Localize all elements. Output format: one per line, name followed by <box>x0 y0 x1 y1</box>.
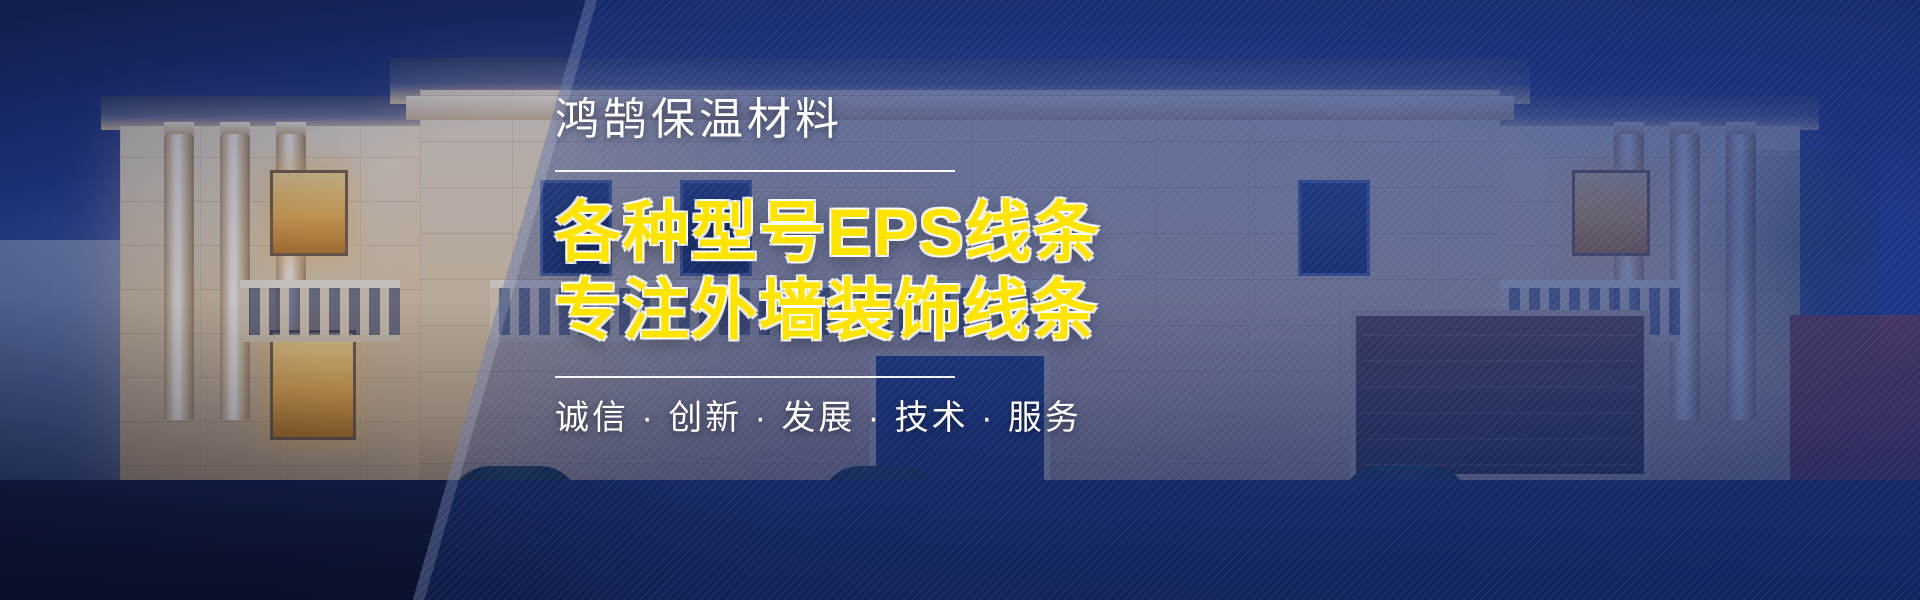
divider-top <box>555 170 955 172</box>
banner-text-block: 鸿鹄保温材料 各种型号EPS线条 专注外墙装饰线条 诚信 · 创新 · 发展 ·… <box>555 96 1455 439</box>
headline-line-2: 专注外墙装饰线条 <box>555 272 1455 350</box>
headline-line-1: 各种型号EPS线条 <box>555 194 1455 272</box>
tagline: 诚信 · 创新 · 发展 · 技术 · 服务 <box>555 398 1455 439</box>
divider-bottom <box>555 376 955 378</box>
brand-name: 鸿鹄保温材料 <box>555 96 1455 144</box>
hero-banner: 鸿鹄保温材料 各种型号EPS线条 专注外墙装饰线条 诚信 · 创新 · 发展 ·… <box>0 0 1920 600</box>
